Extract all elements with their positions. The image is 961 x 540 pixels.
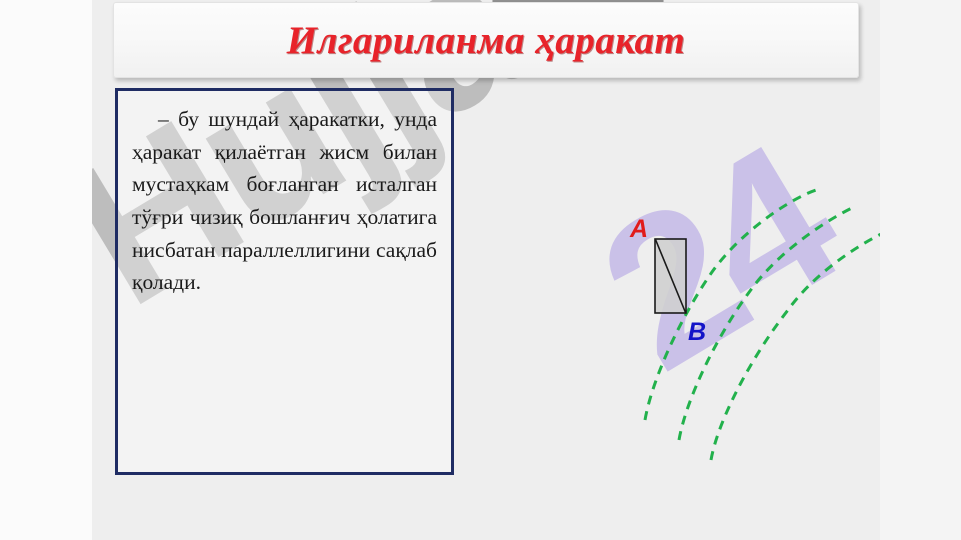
trajectory-curve-1	[645, 190, 816, 420]
moving-body	[655, 239, 686, 313]
point-label-a: A	[630, 215, 648, 244]
body-rectangle	[655, 239, 686, 313]
page-title: Илгариланма ҳаракат	[287, 18, 686, 63]
page-gutter-left	[0, 0, 92, 540]
point-label-b: B	[688, 318, 706, 347]
trajectory-curve-3	[711, 229, 880, 460]
definition-paragraph: – бу шундай ҳаракатки, унда ҳаракат қила…	[132, 103, 437, 299]
definition-text-box: – бу шундай ҳаракатки, унда ҳаракат қила…	[115, 88, 454, 475]
slide-viewer: Hujjat 24 Илгариланма ҳаракат – бу шунда…	[0, 0, 961, 540]
slide-title-box: Илгариланма ҳаракат	[113, 2, 859, 78]
slide-canvas: Hujjat 24 Илгариланма ҳаракат – бу шунда…	[92, 0, 880, 540]
page-gutter-right	[880, 0, 961, 540]
watermark-text-secondary: 24	[562, 100, 870, 417]
body-diagonal-ab	[656, 240, 686, 313]
trajectory-curves	[645, 190, 880, 460]
